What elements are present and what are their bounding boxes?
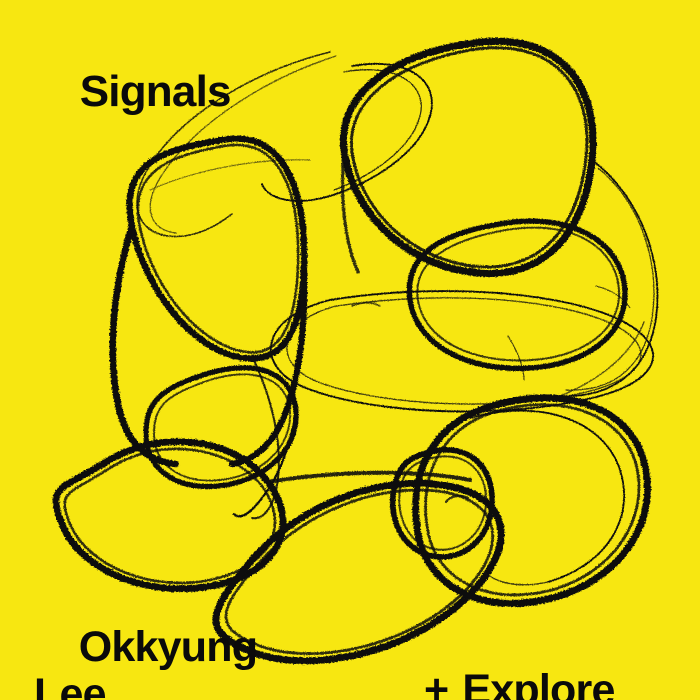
artist-name-line1: Okkyung — [79, 623, 258, 671]
plus-icon: + — [424, 666, 448, 700]
ensemble-name-line1: Explore — [462, 666, 614, 700]
ensemble-credit-line1: +Explore — [424, 669, 659, 700]
artist-name-line2: Lee — [34, 673, 257, 700]
ensemble-credit: +ExploreEnsemble — [424, 583, 659, 700]
artist-name: OkkyungLee — [34, 583, 257, 700]
page-title: Signals — [34, 26, 231, 158]
album-cover: Signals OkkyungLee +ExploreEnsemble — [0, 0, 700, 700]
album-title: Signals — [80, 67, 231, 116]
